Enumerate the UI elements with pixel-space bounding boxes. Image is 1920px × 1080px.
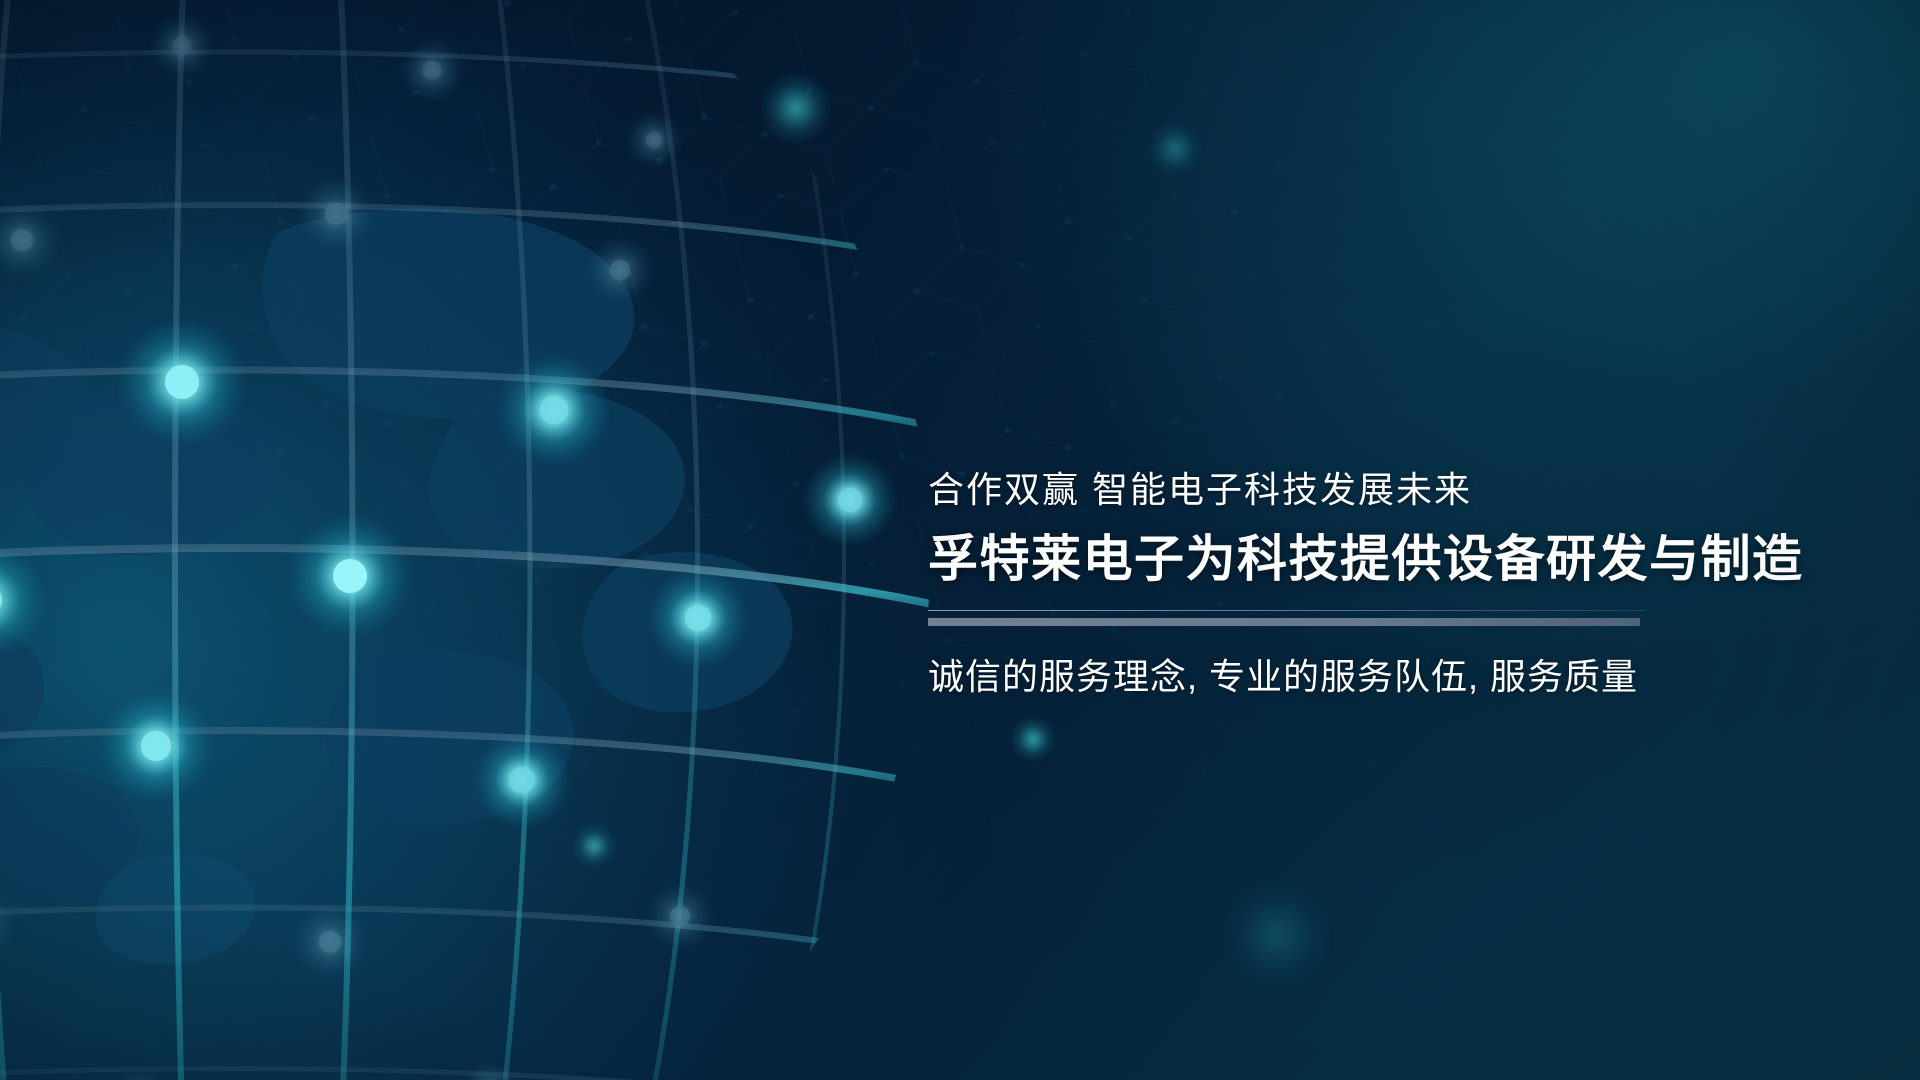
- divider-hairline: [928, 610, 1646, 611]
- hero-subline: 诚信的服务理念, 专业的服务队伍, 服务质量: [928, 654, 1868, 700]
- divider-bar: [928, 618, 1640, 626]
- node-glow: [1148, 122, 1202, 176]
- node-glow: [760, 72, 832, 144]
- latitude-lines: [0, 0, 1050, 1080]
- node-glow: [1222, 880, 1332, 990]
- hero-text-block: 合作双赢 智能电子科技发展未来 孚特莱电子为科技提供设备研发与制造 诚信的服务理…: [928, 468, 1868, 700]
- hero-headline: 孚特莱电子为科技提供设备研发与制造: [928, 528, 1868, 590]
- node-glow: [1010, 716, 1056, 762]
- hero-banner: 合作双赢 智能电子科技发展未来 孚特莱电子为科技提供设备研发与制造 诚信的服务理…: [0, 0, 1920, 1080]
- globe-wireframe: [0, 0, 1050, 1080]
- decorative-divider: [928, 610, 1646, 626]
- continents: [0, 208, 793, 919]
- node-glow: [572, 824, 616, 868]
- longitude-lines: [0, 0, 959, 1080]
- hero-eyebrow: 合作双赢 智能电子科技发展未来: [928, 468, 1868, 512]
- node-glow: [0, 12, 898, 1080]
